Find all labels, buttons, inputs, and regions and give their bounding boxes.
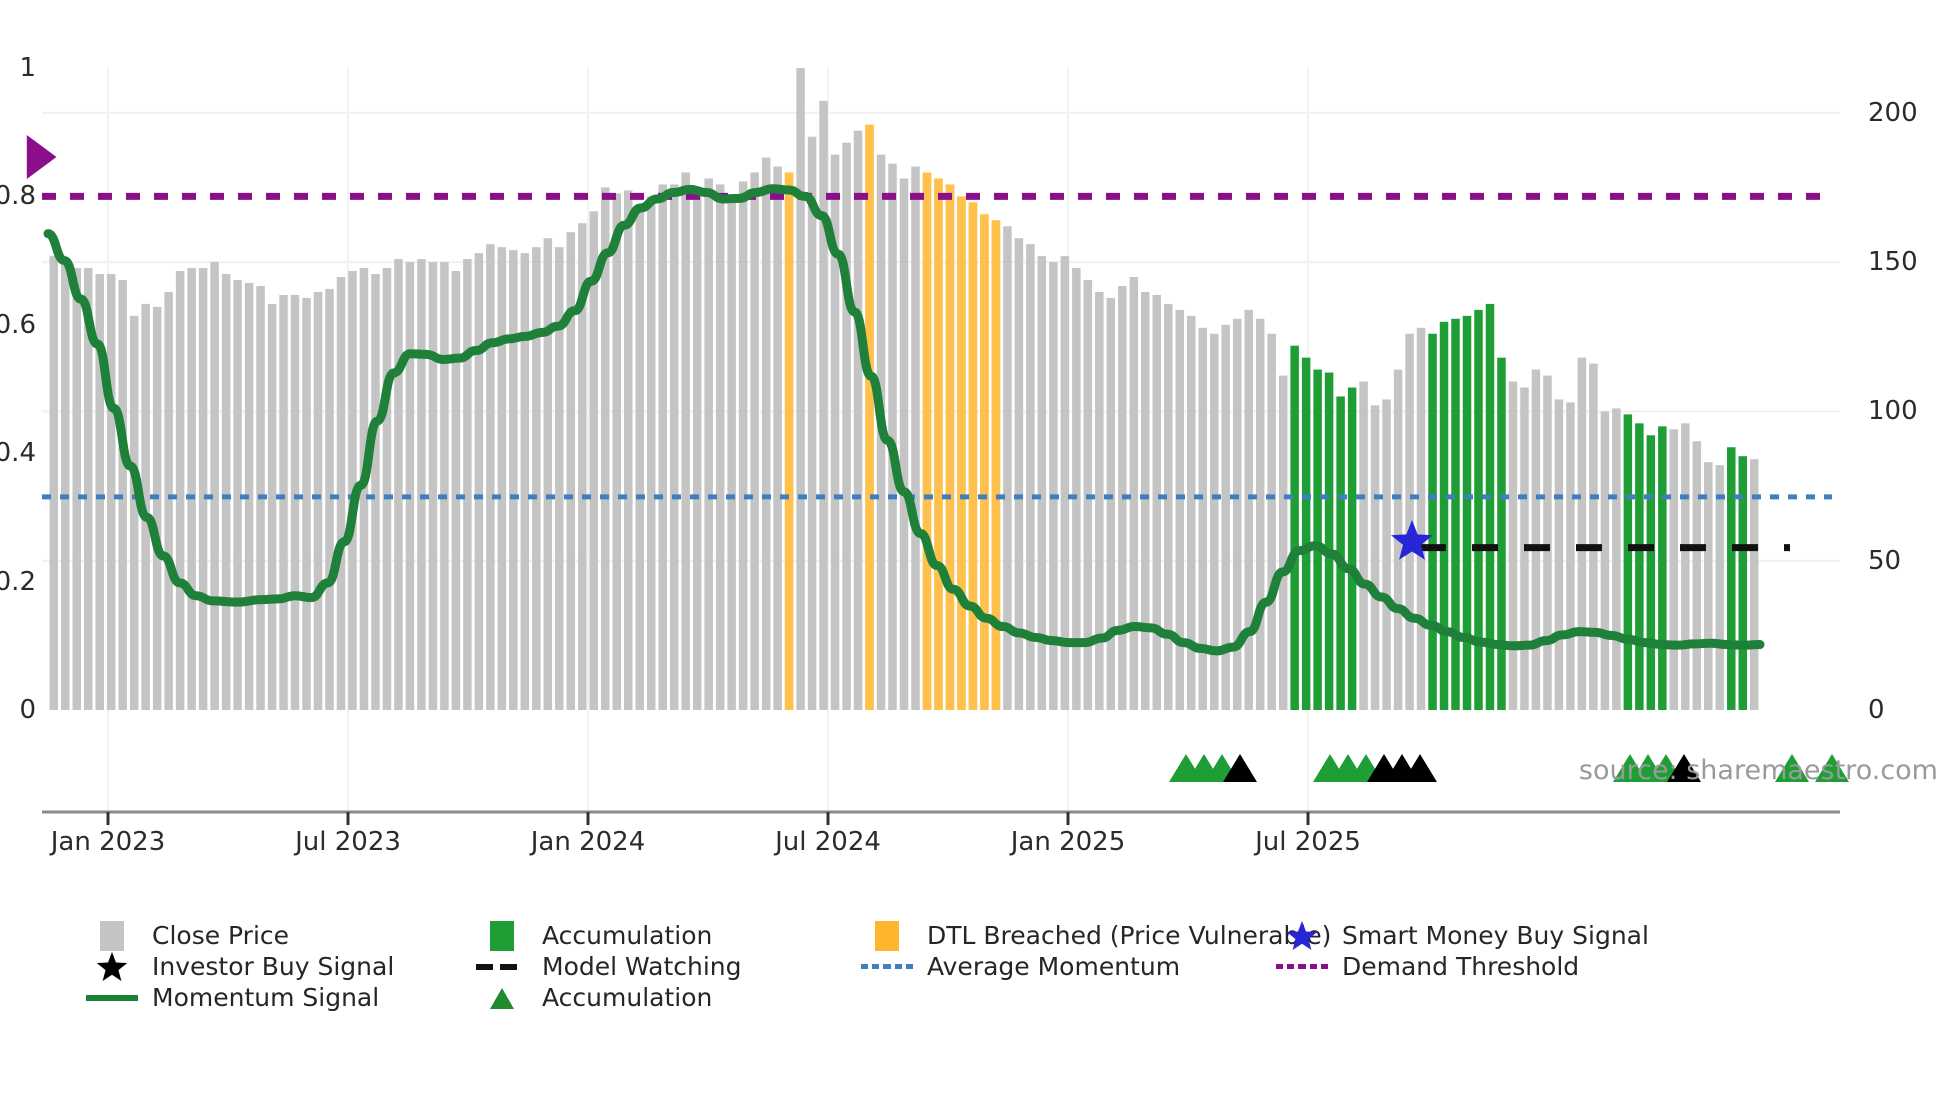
solid-line-icon — [84, 983, 140, 1013]
x-axis-tick-label: Jan 2025 — [1011, 827, 1126, 857]
star-icon — [84, 952, 140, 982]
legend-label: Smart Money Buy Signal — [1342, 921, 1649, 950]
legend-label: Demand Threshold — [1342, 952, 1579, 981]
square-swatch-icon — [859, 921, 915, 951]
chart-legend: Close PriceAccumulationDTL Breached (Pri… — [84, 920, 1884, 1013]
legend-item[interactable]: DTL Breached (Price Vulnerable) — [859, 920, 1274, 951]
x-axis-tick-label: Jul 2024 — [775, 827, 881, 857]
x-axis-tick-label: Jul 2023 — [295, 827, 401, 857]
legend-label: Accumulation — [542, 983, 712, 1012]
legend-label: Close Price — [152, 921, 289, 950]
chart-page: 00.20.40.60.81 050100150200 Jan 2023Jul … — [0, 0, 1960, 1102]
x-axis-tick-label: Jan 2023 — [51, 827, 166, 857]
legend-label: Investor Buy Signal — [152, 952, 394, 981]
legend-item[interactable]: Momentum Signal — [84, 982, 474, 1013]
legend-item[interactable]: Demand Threshold — [1274, 951, 1674, 982]
legend-label: Model Watching — [542, 952, 742, 981]
legend-item[interactable]: Average Momentum — [859, 951, 1274, 982]
dashed-line-icon — [474, 952, 530, 982]
legend-item[interactable]: Smart Money Buy Signal — [1274, 920, 1674, 951]
square-swatch-icon — [474, 921, 530, 951]
legend-item[interactable]: Accumulation — [474, 982, 859, 1013]
square-swatch-icon — [84, 921, 140, 951]
legend-item[interactable]: Accumulation — [474, 920, 859, 951]
x-axis-tick-label: Jul 2025 — [1255, 827, 1361, 857]
legend-item[interactable]: Investor Buy Signal — [84, 951, 474, 982]
legend-label: Average Momentum — [927, 952, 1180, 981]
x-axis-tick-label: Jan 2024 — [531, 827, 646, 857]
source-watermark: source: sharemaestro.com — [1579, 755, 1938, 786]
legend-item[interactable]: Close Price — [84, 920, 474, 951]
legend-label: Accumulation — [542, 921, 712, 950]
star-icon — [1274, 921, 1330, 951]
dotted-line-icon — [859, 952, 915, 982]
legend-label: Momentum Signal — [152, 983, 379, 1012]
triangle-up-icon — [474, 983, 530, 1013]
legend-item[interactable]: Model Watching — [474, 951, 859, 982]
legend-label: DTL Breached (Price Vulnerable) — [927, 921, 1331, 950]
dotted-line-icon — [1274, 952, 1330, 982]
